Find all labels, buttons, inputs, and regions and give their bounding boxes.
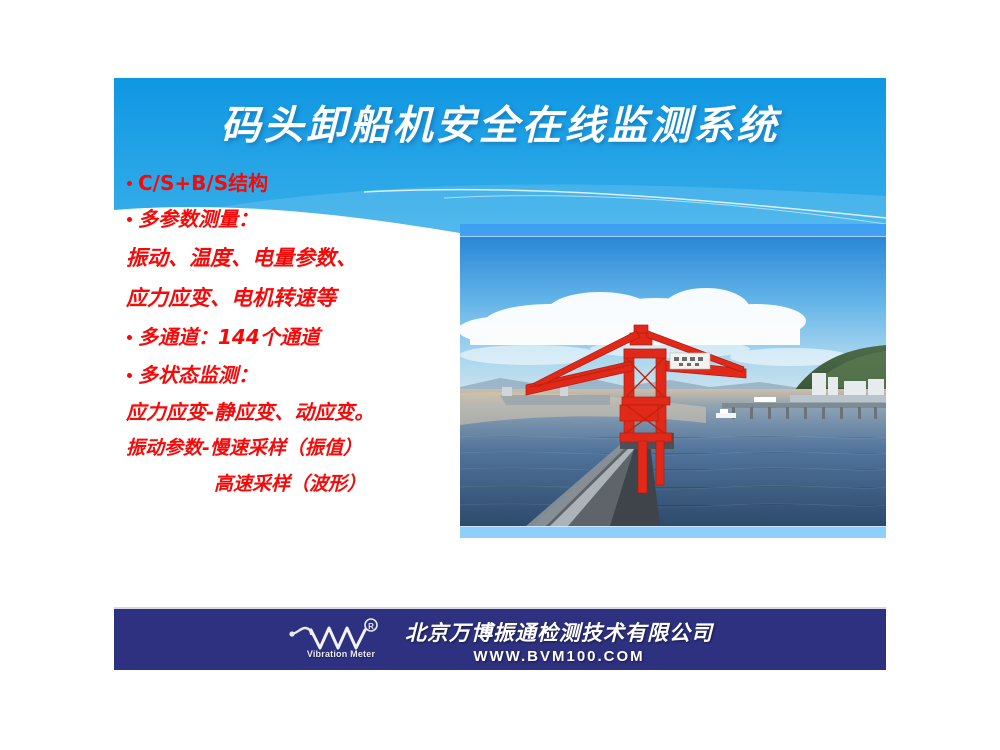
slide-title: 码头卸船机安全在线监测系统 bbox=[114, 104, 886, 148]
slide-footer: R Vibration Meter 北京万博振通检测技术有限公司 WWW.BVM… bbox=[114, 607, 886, 670]
svg-text:R: R bbox=[368, 622, 374, 631]
footer-text-block: 北京万博振通检测技术有限公司 WWW.BVM100.COM bbox=[405, 617, 713, 665]
company-website: WWW.BVM100.COM bbox=[473, 648, 644, 665]
bullet-list: C/S+B/S结构 多参数测量： 振动、温度、电量参数、 应力应变、电机转速等 … bbox=[126, 166, 486, 502]
bullet-multi-channel: 多通道：144个通道 bbox=[126, 318, 486, 356]
presentation-slide: 码头卸船机安全在线监测系统 C/S+B/S结构 多参数测量： 振动、温度、电量参… bbox=[114, 78, 886, 670]
text-state-line-1: 应力应变-静应变、动应变。 bbox=[126, 394, 486, 430]
site-photo bbox=[460, 237, 886, 526]
text-param-line-2: 应力应变、电机转速等 bbox=[126, 278, 486, 318]
text-state-line-2: 振动参数-慢速采样（振值） bbox=[126, 430, 486, 466]
bullet-cs-bs: C/S+B/S结构 bbox=[126, 166, 486, 200]
logo-wordmark: Vibration Meter bbox=[293, 649, 389, 659]
company-logo: R Vibration Meter bbox=[287, 618, 391, 664]
footer-content: R Vibration Meter 北京万博振通检测技术有限公司 WWW.BVM… bbox=[287, 617, 713, 665]
bullet-multi-param: 多参数测量： bbox=[126, 200, 486, 238]
text-param-line-1: 振动、温度、电量参数、 bbox=[126, 238, 486, 278]
ship-unloader-photo-graphic bbox=[460, 237, 886, 526]
text-state-line-3: 高速采样（波形） bbox=[126, 466, 486, 502]
company-name: 北京万博振通检测技术有限公司 bbox=[405, 617, 713, 647]
bullet-multi-state: 多状态监测： bbox=[126, 356, 486, 394]
